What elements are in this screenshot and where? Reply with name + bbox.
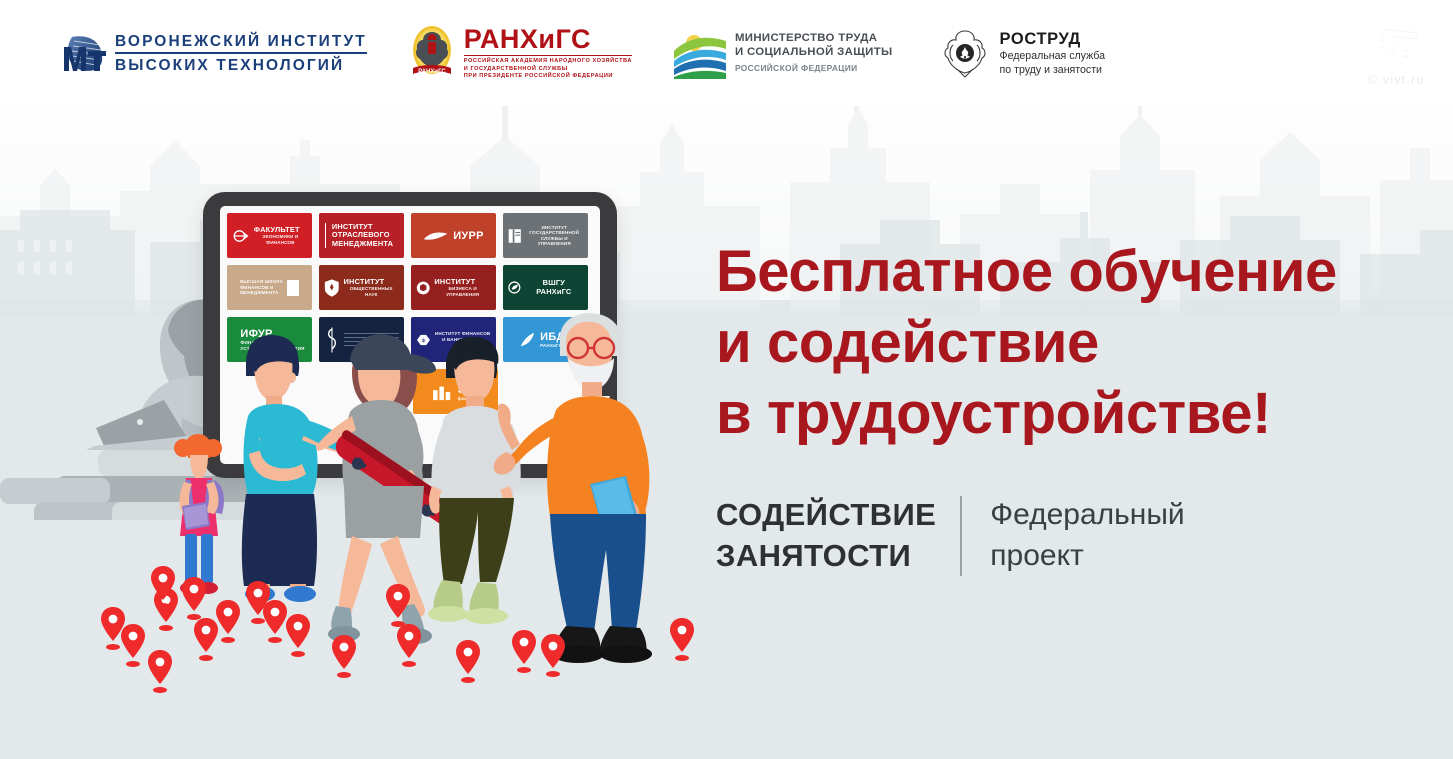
tile-label: ИНСТИТУТ bbox=[434, 278, 475, 286]
ranepa-ribbon-text: РАНХиГС bbox=[418, 69, 446, 75]
map-pin-icon bbox=[194, 618, 218, 661]
map-pin-icon bbox=[456, 640, 480, 683]
mintrud-sub: РОССИЙСКОЙ ФЕДЕРАЦИИ bbox=[735, 62, 893, 75]
headline-line3: в трудоустройстве! bbox=[716, 378, 1406, 449]
project-divider bbox=[960, 496, 962, 576]
map-pin-icon bbox=[397, 624, 421, 667]
watermark-text: © vivt.ru bbox=[1368, 72, 1425, 87]
vivt-emblem-icon bbox=[62, 31, 106, 75]
map-pin-icon bbox=[216, 600, 240, 643]
rostrud-eagle-emblem-icon bbox=[939, 25, 991, 81]
vshgu-leaf-icon bbox=[508, 281, 521, 294]
map-pins-group bbox=[0, 520, 760, 700]
logo-ranepa[interactable]: РАНХиГС РАНХиГС РОССИЙСКАЯ АКАДЕМИЯ НАРО… bbox=[409, 24, 632, 82]
ranepa-sub3: ПРИ ПРЕЗИДЕНТЕ РОССИЙСКОЙ ФЕДЕРАЦИИ bbox=[464, 73, 632, 80]
ranepa-title: РАНХиГС bbox=[464, 25, 632, 54]
project-kind-line1: Федеральный bbox=[990, 494, 1184, 535]
vivt-line1: ВОРОНЕЖСКИЙ ИНСТИТУТ bbox=[115, 33, 367, 54]
ib-shield-icon bbox=[324, 278, 340, 298]
map-pin-icon bbox=[512, 630, 536, 673]
headline-line2: и содействие bbox=[716, 307, 1406, 378]
tile-sublabel: ОБЩЕСТВЕННЫХ НАУК bbox=[344, 286, 399, 297]
promo-banner: ФАКУЛЬТЕТ ЭКОНОМИКИ И ФИНАНСОВ ИНСТИТУТ … bbox=[0, 0, 1453, 759]
vshf-mark-icon bbox=[287, 280, 299, 296]
rostrud-sub2: по труду и занятости bbox=[1000, 63, 1106, 77]
map-pin-icon bbox=[541, 634, 565, 677]
mintrud-line2: И СОЦИАЛЬНОЙ ЗАЩИТЫ bbox=[735, 45, 893, 59]
tile-label: ФАКУЛЬТЕТ bbox=[254, 226, 300, 234]
tile-sublabel: БИЗНЕСА И УПРАВЛЕНИЯ bbox=[434, 286, 491, 297]
ranepa-subtitle: РОССИЙСКАЯ АКАДЕМИЯ НАРОДНОГО ХОЗЯЙСТВА … bbox=[464, 55, 632, 80]
project-name-line1: СОДЕЙСТВИЕ bbox=[716, 494, 936, 535]
project-kind: Федеральный проект bbox=[990, 494, 1184, 576]
map-pin-icon bbox=[101, 607, 125, 650]
map-pin-icon bbox=[263, 600, 287, 643]
rostrud-sub1: Федеральная служба bbox=[1000, 49, 1106, 63]
institute-tile-iurr[interactable]: ИУРР bbox=[411, 213, 496, 258]
tile-sublabel2: МЕНЕДЖМЕНТА bbox=[240, 290, 278, 295]
map-pin-icon bbox=[670, 618, 694, 661]
map-pin-icon bbox=[332, 635, 356, 678]
tile-label: ИНСТИТУТ bbox=[344, 278, 385, 286]
ranepa-eagle-emblem-icon: РАНХиГС bbox=[409, 24, 455, 82]
map-pin-icon bbox=[286, 614, 310, 657]
headline-line1: Бесплатное обучение bbox=[716, 236, 1406, 307]
fen-mark-icon bbox=[232, 225, 250, 247]
tile-sublabel2: МЕНЕДЖМЕНТА bbox=[332, 240, 393, 248]
institute-tile-fen[interactable]: ФАКУЛЬТЕТ ЭКОНОМИКИ И ФИНАНСОВ bbox=[227, 213, 312, 258]
headline: Бесплатное обучение и содействие в трудо… bbox=[716, 236, 1406, 449]
project-kind-line2: проект bbox=[990, 535, 1184, 576]
mintrud-line1: МИНИСТЕРСТВО ТРУДА bbox=[735, 31, 893, 45]
ranepa-sub1: РОССИЙСКАЯ АКАДЕМИЯ НАРОДНОГО ХОЗЯЙСТВА bbox=[464, 58, 632, 65]
tile-label: ВШГУ РАНХиГС bbox=[525, 279, 583, 296]
logo-vivt[interactable]: ВОРОНЕЖСКИЙ ИНСТИТУТ ВЫСОКИХ ТЕХНОЛОГИЙ bbox=[62, 31, 367, 75]
tile-label: ИУРР bbox=[453, 230, 484, 242]
igsu-book-icon bbox=[508, 226, 522, 246]
project-name: СОДЕЙСТВИЕ ЗАНЯТОСТИ bbox=[716, 494, 936, 576]
vivt-line2: ВЫСОКИХ ТЕХНОЛОГИЙ bbox=[115, 57, 367, 74]
project-lockup: СОДЕЙСТВИЕ ЗАНЯТОСТИ Федеральный проект bbox=[716, 494, 1185, 576]
tile-label: ИНСТИТУТ ГОСУДАРСТВЕННОЙ bbox=[526, 225, 584, 236]
logo-header-bar: ВОРОНЕЖСКИЙ ИНСТИТУТ ВЫСОКИХ ТЕХНОЛОГИЙ … bbox=[0, 0, 1453, 106]
map-pin-icon bbox=[121, 624, 145, 667]
institute-tile-iprm[interactable]: ИНСТИТУТ ОТРАСЛЕВОГО МЕНЕДЖМЕНТА bbox=[319, 213, 404, 258]
tile-sublabel: СЛУЖБЫ И УПРАВЛЕНИЯ bbox=[526, 236, 584, 247]
logo-rostrud[interactable]: РОСТРУД Федеральная служба по труду и за… bbox=[939, 25, 1106, 81]
tile-sublabel: ЭКОНОМИКИ И ФИНАНСОВ bbox=[254, 234, 307, 245]
logo-mintrud[interactable]: МИНИСТЕРСТВО ТРУДА И СОЦИАЛЬНОЙ ЗАЩИТЫ Р… bbox=[674, 27, 893, 79]
institute-tile-igsu[interactable]: ИНСТИТУТ ГОСУДАРСТВЕННОЙ СЛУЖБЫ И УПРАВЛ… bbox=[503, 213, 588, 258]
map-pin-icon bbox=[386, 584, 410, 627]
iurr-swoosh-icon bbox=[423, 229, 449, 243]
project-name-line2: ЗАНЯТОСТИ bbox=[716, 535, 936, 576]
ibdu-emblem-icon bbox=[416, 280, 430, 296]
mintrud-sun-waves-icon bbox=[674, 27, 726, 79]
vivt-watermark-icon bbox=[1365, 19, 1427, 71]
map-pin-icon bbox=[182, 577, 206, 620]
rostrud-title: РОСТРУД bbox=[1000, 30, 1106, 49]
map-pin-icon bbox=[148, 650, 172, 693]
watermark: © vivt.ru bbox=[1353, 14, 1439, 92]
